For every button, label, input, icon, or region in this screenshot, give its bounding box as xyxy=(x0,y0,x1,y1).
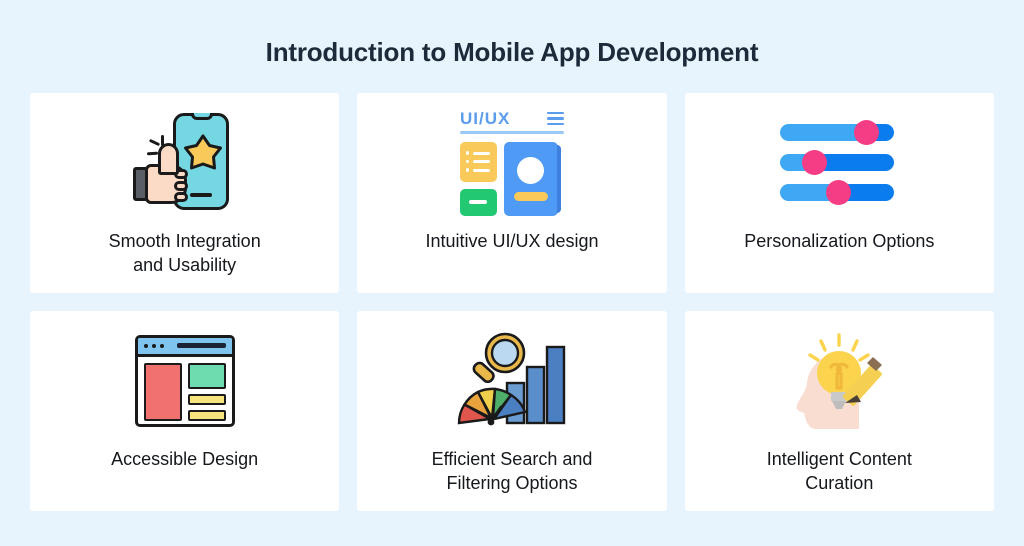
feature-card-intelligent-content-curation[interactable]: Intelligent Content Curation xyxy=(685,311,994,511)
slider-1[interactable] xyxy=(780,124,894,141)
sliders-icon xyxy=(780,107,898,219)
hand-knuckle-2 xyxy=(174,181,188,191)
content-panel-left xyxy=(144,363,182,421)
card-label: Intelligent Content Curation xyxy=(767,447,912,496)
card-label: Smooth Integration and Usability xyxy=(109,229,261,278)
uiux-icon-text: UI/UX xyxy=(460,109,510,129)
content-panel-right xyxy=(188,363,226,389)
phone-notch xyxy=(191,113,213,120)
star-icon xyxy=(183,133,223,171)
feature-card-efficient-search-filtering[interactable]: Efficient Search and Filtering Options xyxy=(357,311,666,511)
list-card-icon xyxy=(460,142,497,182)
feature-card-personalization-options[interactable]: Personalization Options xyxy=(685,93,994,293)
profile-card-icon xyxy=(504,142,558,216)
feature-card-intuitive-uiux-design[interactable]: UI/UX xyxy=(357,93,666,293)
uiux-wireframe-icon: UI/UX xyxy=(453,107,571,219)
button-pill xyxy=(514,192,548,201)
slider-3[interactable] xyxy=(780,184,894,201)
address-bar xyxy=(177,343,226,348)
browser-window-layout-icon xyxy=(135,325,235,437)
card-label: Personalization Options xyxy=(744,229,934,253)
thumb-up xyxy=(158,143,179,175)
feature-card-smooth-integration[interactable]: Smooth Integration and Usability xyxy=(30,93,339,293)
head-lightbulb-pencil-icon xyxy=(785,325,893,437)
magnifier-bar-chart-gauge-icon xyxy=(453,325,571,437)
card-label: Intuitive UI/UX design xyxy=(425,229,598,253)
page-title: Introduction to Mobile App Development xyxy=(266,38,759,67)
browser-titlebar xyxy=(138,338,232,357)
content-bar-2 xyxy=(188,410,226,421)
spark-line-3 xyxy=(147,151,158,155)
spark-line-2 xyxy=(149,138,160,145)
gauge-pivot xyxy=(488,418,495,425)
hamburger-menu-icon xyxy=(547,112,564,126)
card-label: Accessible Design xyxy=(111,447,258,471)
feature-card-accessible-design[interactable]: Accessible Design xyxy=(30,311,339,511)
divider xyxy=(460,131,564,134)
feature-card-grid: Smooth Integration and Usability UI/UX xyxy=(30,93,994,511)
card-label: Efficient Search and Filtering Options xyxy=(432,447,593,496)
phone-home-indicator xyxy=(190,193,212,197)
magnifier-icon xyxy=(472,334,524,384)
slide-root: Introduction to Mobile App Development xyxy=(0,0,1024,546)
slider-2[interactable] xyxy=(780,154,894,171)
minus-card-icon xyxy=(460,189,497,216)
avatar-circle xyxy=(517,157,544,184)
thumbs-up-phone-star-icon xyxy=(125,107,245,219)
hand-knuckle-3 xyxy=(174,192,188,202)
content-bar-1 xyxy=(188,394,226,405)
